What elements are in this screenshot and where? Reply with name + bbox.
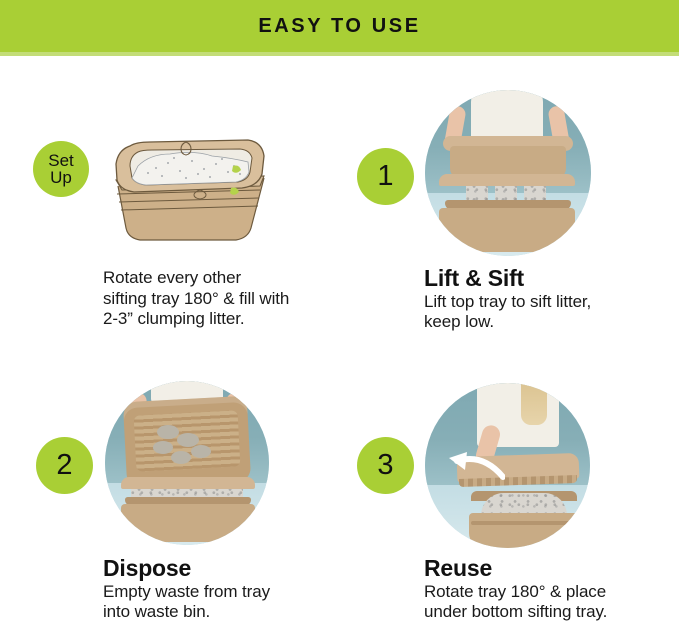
caption-step-2: Dispose Empty waste from tray into waste… — [103, 556, 343, 623]
waste-clump-5 — [191, 445, 211, 458]
caption-step-3: Reuse Rotate tray 180° & place under bot… — [424, 556, 674, 623]
caption-set-up-body: Rotate every other sifting tray 180° & f… — [103, 268, 338, 330]
caption-set-up-line-3: 2-3” clumping litter. — [103, 309, 245, 328]
caption-step-3-line-1: Rotate tray 180° & place — [424, 582, 606, 601]
caption-step-2-line-1: Empty waste from tray — [103, 582, 270, 601]
bottom-tray-rim — [121, 477, 255, 489]
badge-set-up-line1: Set — [48, 152, 74, 169]
badge-step-2: 2 — [36, 437, 93, 494]
header-underline — [0, 52, 679, 56]
caption-step-3-heading: Reuse — [424, 556, 674, 581]
caption-step-1-line-2: keep low. — [424, 312, 494, 331]
bottom-tray-body — [469, 513, 579, 548]
caption-step-1-body: Lift top tray to sift litter, keep low. — [424, 292, 664, 333]
stacked-trays-line-art — [108, 128, 274, 252]
caption-step-2-line-2: into waste bin. — [103, 602, 210, 621]
caption-set-up-line-2: sifting tray 180° & fill with — [103, 289, 289, 308]
waste-clump-3 — [153, 441, 173, 454]
photo-step-1 — [425, 90, 591, 256]
header-banner: EASY TO USE — [0, 0, 679, 52]
person-hair — [521, 383, 547, 425]
curved-left-arrow-icon — [443, 447, 505, 487]
badge-step-3: 3 — [357, 437, 414, 494]
arrow-svg — [443, 447, 505, 487]
bottom-tray-rim — [439, 174, 575, 186]
caption-set-up-line-1: Rotate every other — [103, 268, 241, 287]
caption-set-up: Rotate every other sifting tray 180° & f… — [103, 268, 338, 330]
caption-step-1-heading: Lift & Sift — [424, 266, 664, 291]
setup-tray-illustration — [108, 128, 274, 252]
badge-set-up-line2: Up — [50, 169, 72, 186]
page-title: EASY TO USE — [258, 15, 420, 38]
bottom-tray-stack-line — [471, 521, 577, 525]
caption-step-1: Lift & Sift Lift top tray to sift litter… — [424, 266, 664, 333]
bottom-tray-body — [439, 208, 575, 252]
photo-step-2 — [105, 381, 269, 545]
caption-step-2-body: Empty waste from tray into waste bin. — [103, 582, 343, 623]
waste-clump-4 — [171, 451, 191, 464]
caption-step-1-line-1: Lift top tray to sift litter, — [424, 292, 591, 311]
bottom-tray-body — [121, 504, 255, 542]
badge-step-1: 1 — [357, 148, 414, 205]
caption-step-3-line-2: under bottom sifting tray. — [424, 602, 607, 621]
caption-step-3-body: Rotate tray 180° & place under bottom si… — [424, 582, 674, 623]
caption-step-2-heading: Dispose — [103, 556, 343, 581]
waste-clump-1 — [157, 425, 179, 439]
badge-set-up: Set Up — [33, 141, 89, 197]
